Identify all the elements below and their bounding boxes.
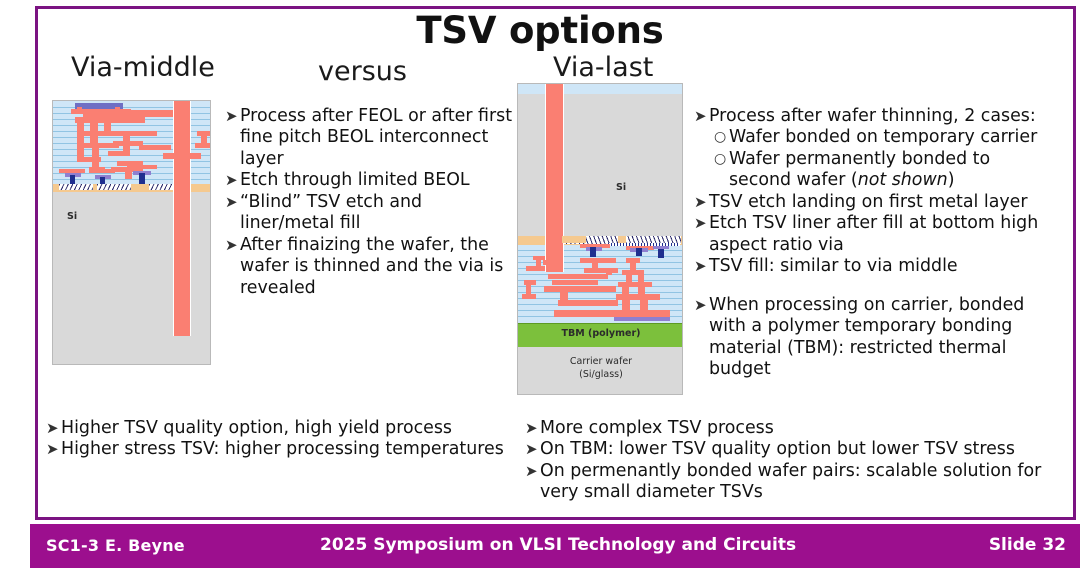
bullet-text: When processing on carrier, bonded with …: [709, 295, 1042, 381]
bullet-circle-icon: ○: [714, 127, 729, 147]
bullet-arrow-icon: ➤: [225, 106, 240, 127]
footer-conference-title: 2025 Symposium on VLSI Technology and Ci…: [320, 535, 796, 555]
metal-line-mid1: [113, 131, 157, 136]
local-interconnect-3: [127, 165, 157, 169]
metal-line-mid6: [108, 151, 130, 156]
heading-via-last: Via-last: [553, 52, 653, 83]
bullet-arrow-icon: ➤: [225, 170, 240, 191]
diagram-via-middle: Si: [52, 100, 211, 365]
tsv-landing-pad: [163, 153, 201, 159]
contact-plug-2: [636, 248, 642, 256]
metal-stack-k: [640, 300, 648, 310]
list-item: ○ Wafer permanently bonded to second waf…: [714, 149, 1042, 192]
bullet-text: TSV etch landing on first metal layer: [709, 192, 1042, 213]
bullet-text: On permenantly bonded wafer pairs: scala…: [540, 461, 1045, 504]
bullet-arrow-icon: ➤: [525, 439, 540, 460]
footer-session-author: SC1-3 E. Beyne: [46, 536, 185, 555]
metal-stack-l: [614, 310, 670, 317]
top-thin-layer: [518, 84, 683, 94]
silicon-substrate: [518, 94, 683, 244]
metal-line-mid9: [125, 171, 132, 179]
list-item: ➤ On TBM: lower TSV quality option but l…: [525, 439, 1045, 460]
sti-hatch-1: [59, 184, 93, 190]
list-item: ➤ TSV etch landing on first metal layer: [694, 192, 1042, 213]
tsv-copper-via: [545, 84, 564, 272]
bullet-text: Process after wafer thinning, 2 cases:: [709, 106, 1042, 127]
metal-line-right3: [195, 143, 211, 148]
local-interconnect-1: [59, 169, 85, 173]
bullet-text: On TBM: lower TSV quality option but low…: [540, 439, 1045, 460]
page-title: TSV options: [0, 9, 1080, 52]
metal-line-11: [552, 280, 598, 285]
bullet-arrow-icon: ➤: [225, 235, 240, 256]
bullet-text: TSV fill: similar to via middle: [709, 256, 1042, 277]
bullet-text: Wafer permanently bonded to second wafer…: [729, 149, 1042, 192]
bullet-arrow-icon: ➤: [525, 461, 540, 482]
metal-line-9: [584, 268, 618, 273]
list-item: ➤ More complex TSV process: [525, 418, 1045, 439]
list-item: ➤ TSV fill: similar to via middle: [694, 256, 1042, 277]
metal-line-10: [548, 274, 608, 279]
tbm-label: TBM (polymer): [518, 328, 683, 339]
metal-line-6: [522, 294, 536, 299]
list-item: ➤ When processing on carrier, bonded wit…: [694, 295, 1042, 381]
left-summary-list: ➤ Higher TSV quality option, high yield …: [46, 418, 526, 461]
bullet-arrow-icon: ➤: [694, 106, 709, 127]
tsv-copper-via: [173, 101, 191, 336]
bottom-pad: [614, 317, 670, 321]
bullet-arrow-icon: ➤: [694, 256, 709, 277]
list-item: ➤ Higher stress TSV: higher processing t…: [46, 439, 526, 460]
bullet-circle-icon: ○: [714, 149, 729, 169]
carrier-label-line2: (Si/glass): [518, 369, 683, 382]
diagram-via-last: Si TBM (polymer) Carrier wafer (Si/glass…: [517, 83, 683, 395]
carrier-wafer-label: Carrier wafer (Si/glass): [518, 356, 683, 382]
metal-line-mid5: [139, 145, 171, 150]
bullet-text: Wafer bonded on temporary carrier: [729, 127, 1042, 148]
list-item: ➤ “Blind” TSV etch and liner/metal fill: [225, 192, 517, 235]
bullet-arrow-icon: ➤: [225, 192, 240, 213]
list-item: ➤ Higher TSV quality option, high yield …: [46, 418, 526, 439]
list-item: ○ Wafer bonded on temporary carrier: [714, 127, 1042, 148]
bullet-text: Higher stress TSV: higher processing tem…: [61, 439, 526, 460]
list-item: ➤ Etch TSV liner after fill at bottom hi…: [694, 213, 1042, 256]
local-interconnect-2: [89, 169, 115, 173]
gate-pad-3: [653, 246, 669, 249]
metal-line-7: [580, 258, 616, 263]
tsv-oxide-shoulder: [562, 236, 586, 243]
bullet-arrow-icon: ➤: [694, 192, 709, 213]
tsv-bottom-landing: [543, 260, 563, 265]
metal-line-top2: [77, 107, 82, 111]
heading-via-middle: Via-middle: [71, 52, 215, 83]
right-bullet-list: ➤ Process after wafer thinning, 2 cases:…: [694, 106, 1042, 381]
bullet-text: Etch TSV liner after fill at bottom high…: [709, 213, 1042, 256]
bullet-arrow-icon: ➤: [694, 213, 709, 234]
list-item: ➤ On permenantly bonded wafer pairs: sca…: [525, 461, 1045, 504]
metal-stack-d: [626, 274, 632, 282]
slide-root: TSV options Via-middle versus Via-last: [0, 0, 1080, 568]
sti-hatch-3: [149, 184, 173, 190]
contact-plug-1: [70, 175, 75, 184]
silicon-label: Si: [616, 182, 626, 193]
bullet-text: Etch through limited BEOL: [240, 170, 517, 191]
bullet-text: “Blind” TSV etch and liner/metal fill: [240, 192, 517, 235]
silicon-label: Si: [67, 211, 77, 222]
bullet-text-tail: ): [948, 170, 955, 190]
footer-slide-number: Slide 32: [989, 535, 1066, 555]
metal-line-16: [606, 270, 612, 275]
contact-plug-3: [139, 173, 145, 184]
bullet-arrow-icon: ➤: [46, 418, 61, 439]
metal-line-wide-upper: [83, 110, 173, 117]
contact-plug-1: [590, 247, 596, 257]
list-item: ➤ Etch through limited BEOL: [225, 170, 517, 191]
bullet-text: More complex TSV process: [540, 418, 1045, 439]
metal-line-14: [558, 300, 618, 306]
bullet-text: Process after FEOL or after first fine p…: [240, 106, 517, 170]
list-item: ➤ Process after wafer thinning, 2 cases:: [694, 106, 1042, 127]
metal-stack-b: [630, 262, 636, 270]
bullet-text: After finaizing the wafer, the wafer is …: [240, 235, 517, 299]
bullet-arrow-icon: ➤: [46, 439, 61, 460]
metal-stack-e: [638, 274, 644, 282]
metal-stack-j: [622, 300, 630, 310]
bullet-arrow-icon: ➤: [525, 418, 540, 439]
list-item: ➤ Process after FEOL or after first fine…: [225, 106, 517, 170]
sti-hatch-2: [97, 184, 131, 190]
metal-line-12: [544, 286, 616, 292]
bullet-text: Higher TSV quality option, high yield pr…: [61, 418, 526, 439]
right-summary-list: ➤ More complex TSV process ➤ On TBM: low…: [525, 418, 1045, 504]
carrier-label-line1: Carrier wafer: [518, 356, 683, 369]
bullet-arrow-icon: ➤: [694, 295, 709, 316]
contact-plug-2: [100, 177, 105, 184]
left-bullet-list: ➤ Process after FEOL or after first fine…: [225, 106, 517, 299]
list-item: ➤ After finaizing the wafer, the wafer i…: [225, 235, 517, 299]
bullet-text-italic: not shown: [858, 170, 948, 190]
heading-versus: versus: [318, 56, 407, 87]
